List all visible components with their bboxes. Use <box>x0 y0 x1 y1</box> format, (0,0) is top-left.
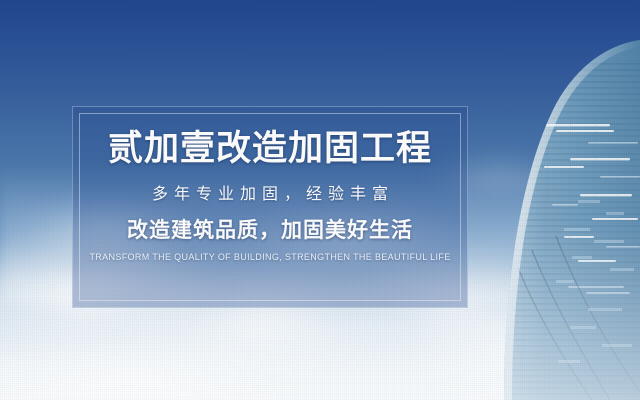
hero-text-panel: 贰加壹改造加固工程 多年专业加固，经验丰富 改造建筑品质，加固美好生活 TRAN… <box>72 106 468 308</box>
skyscraper-image <box>460 0 640 400</box>
slogan-text: 改造建筑品质，加固美好生活 <box>72 204 468 243</box>
subtitle-text: 多年专业加固，经验丰富 <box>72 168 468 204</box>
promotional-banner: 贰加壹改造加固工程 多年专业加固，经验丰富 改造建筑品质，加固美好生活 TRAN… <box>0 0 640 400</box>
hero-text-stack: 贰加壹改造加固工程 多年专业加固，经验丰富 改造建筑品质，加固美好生活 TRAN… <box>72 106 468 263</box>
page-title: 贰加壹改造加固工程 <box>72 106 468 168</box>
english-tagline: TRANSFORM THE QUALITY OF BUILDING, STREN… <box>72 243 468 263</box>
